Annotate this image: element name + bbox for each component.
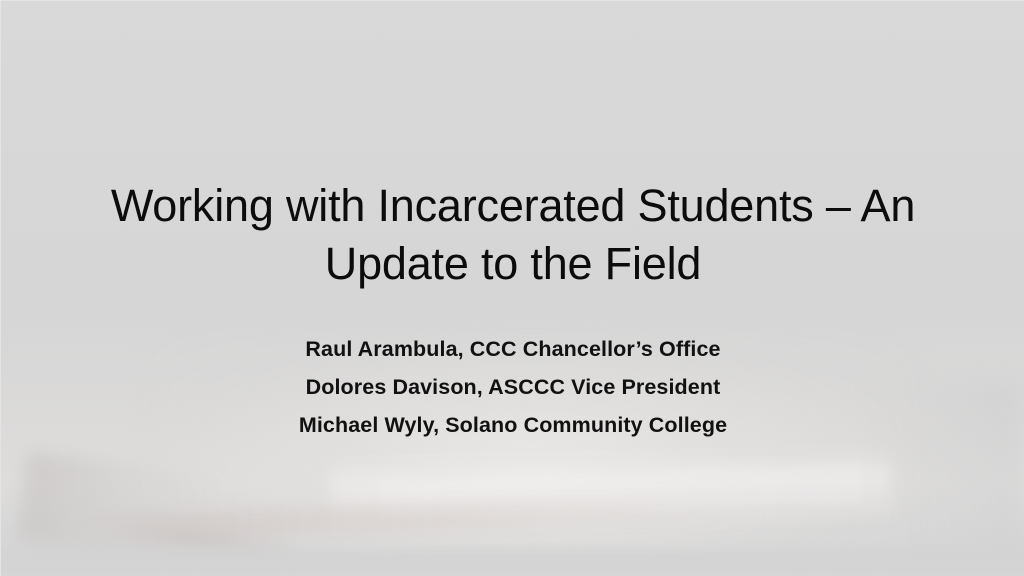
slide-title-line-2: Update to the Field (63, 235, 963, 293)
slide-subtitle: Raul Arambula, CCC Chancellor’s Office D… (63, 330, 963, 444)
presenter-line-1: Raul Arambula, CCC Chancellor’s Office (63, 330, 963, 368)
slide-title: Working with Incarcerated Students – An … (63, 177, 963, 293)
presenter-line-3: Michael Wyly, Solano Community College (63, 406, 963, 444)
slide-title-line-1: Working with Incarcerated Students – An (63, 177, 963, 235)
slide-content: Working with Incarcerated Students – An … (1, 1, 1024, 576)
title-slide: Working with Incarcerated Students – An … (0, 0, 1024, 576)
presenter-line-2: Dolores Davison, ASCCC Vice President (63, 368, 963, 406)
